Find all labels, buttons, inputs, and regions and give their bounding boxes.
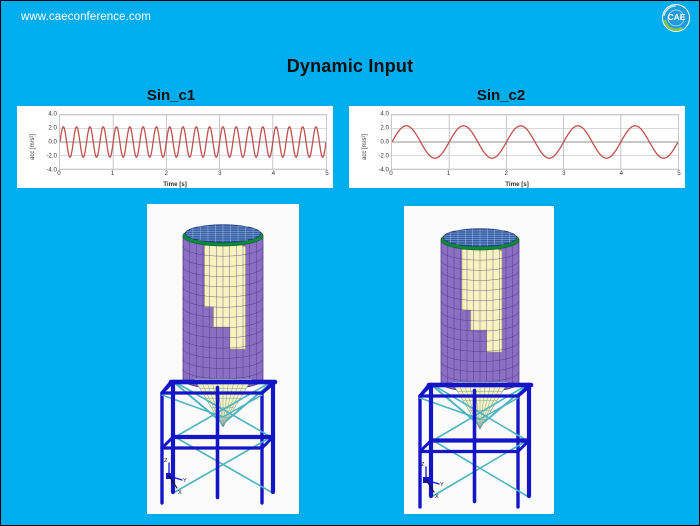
- chart-c2-x-tick: 4: [620, 170, 623, 177]
- silo-fea-model-left: ZYX: [147, 204, 299, 514]
- chart-panel-sin-c1: acc [m/s²] 4.02.00.0-2.0-4.0 012345 Time…: [17, 106, 333, 188]
- svg-text:CAE: CAE: [668, 12, 686, 22]
- chart-c1-plot-area: [59, 114, 327, 170]
- chart-c2-plot-area: [391, 114, 679, 170]
- chart-c1-x-ticks: 012345: [59, 170, 327, 179]
- chart-c2-y-tick: -4.0: [378, 167, 389, 174]
- silo-model-left-graphic: ZYX: [147, 204, 299, 514]
- chart-c1-series-path: [60, 115, 326, 169]
- chart-c1-y-ticks: 4.02.00.0-2.0-4.0: [31, 114, 57, 170]
- chart-c1-y-tick: -4.0: [46, 167, 57, 174]
- svg-text:Z: Z: [421, 462, 425, 468]
- page-title: Dynamic Input: [1, 56, 699, 77]
- chart-c2-x-ticks: 012345: [391, 170, 679, 179]
- chart-c1-x-axis-label: Time [s]: [17, 181, 333, 188]
- chart-c1-x-tick: 0: [57, 170, 60, 177]
- chart-c1-y-tick: -2.0: [46, 153, 57, 160]
- chart-c2-y-tick: 4.0: [380, 111, 389, 118]
- chart-c2-x-axis-label: Time [s]: [349, 181, 685, 188]
- chart-c2-x-tick: 0: [389, 170, 392, 177]
- svg-text:Y: Y: [183, 478, 187, 484]
- chart-c1-y-tick: 0.0: [48, 139, 57, 146]
- chart-c2-y-ticks: 4.02.00.0-2.0-4.0: [363, 114, 389, 170]
- chart-c1-x-tick: 2: [164, 170, 167, 177]
- chart-c2-y-tick: 0.0: [380, 139, 389, 146]
- chart-title-sin-c2: Sin_c2: [441, 87, 561, 104]
- chart-c2-y-tick: 2.0: [380, 125, 389, 132]
- svg-text:X: X: [435, 494, 439, 500]
- silo-fea-model-right: ZYX: [404, 206, 554, 514]
- chart-c2-y-tick: -2.0: [378, 153, 389, 160]
- chart-c1-y-tick: 2.0: [48, 125, 57, 132]
- chart-c1-y-tick: 4.0: [48, 111, 57, 118]
- chart-title-sin-c1: Sin_c1: [111, 87, 231, 104]
- svg-text:X: X: [178, 490, 182, 496]
- chart-c2-x-tick: 1: [447, 170, 450, 177]
- chart-panel-sin-c2: acc [m/s²] 4.02.00.0-2.0-4.0 012345 Time…: [349, 106, 685, 188]
- svg-text:Z: Z: [164, 458, 168, 464]
- svg-text:Y: Y: [440, 482, 444, 488]
- site-url: www.caeconference.com: [21, 11, 151, 23]
- chart-c2-series-path: [392, 115, 678, 169]
- chart-c1-x-tick: 5: [325, 170, 328, 177]
- chart-c2-x-tick: 2: [504, 170, 507, 177]
- chart-c1-x-tick: 4: [272, 170, 275, 177]
- cae-conference-logo: CAE: [661, 3, 691, 33]
- chart-c1-x-tick: 1: [111, 170, 114, 177]
- chart-c1-x-tick: 3: [218, 170, 221, 177]
- chart-c2-x-tick: 3: [562, 170, 565, 177]
- silo-model-right-graphic: ZYX: [404, 206, 554, 514]
- presentation-slide: www.caeconference.com CAE Dynamic Input …: [0, 0, 700, 526]
- chart-c2-x-tick: 5: [677, 170, 680, 177]
